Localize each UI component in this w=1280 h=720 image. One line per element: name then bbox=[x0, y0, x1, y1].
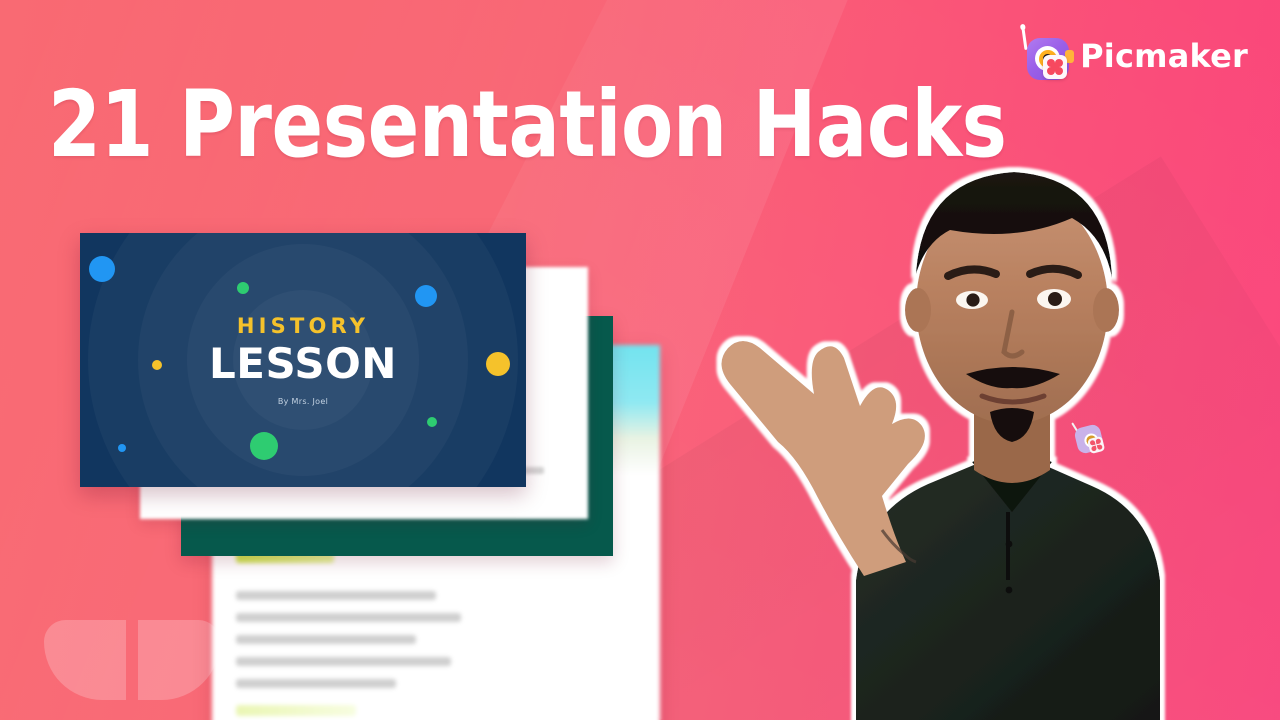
badge-petal-br bbox=[1096, 444, 1102, 450]
thumbnail-canvas: 21 Presentation Hacks Picmaker bbox=[0, 0, 1280, 720]
slide-title: LESSON bbox=[80, 339, 526, 388]
leaf-right-icon bbox=[138, 620, 220, 700]
presenter-pupil-right bbox=[1048, 292, 1062, 306]
slide-back-body-line bbox=[236, 679, 396, 688]
presenter-pupil-left bbox=[966, 293, 979, 306]
slide-back-body-line bbox=[236, 635, 416, 644]
presenter-ear-left bbox=[905, 288, 931, 332]
presenter-button bbox=[1006, 541, 1013, 548]
slide-dot-7 bbox=[118, 444, 126, 452]
leaf-pair-icon bbox=[44, 620, 220, 700]
leaf-left-icon bbox=[44, 620, 126, 700]
slide-author: By Mrs. Joel bbox=[80, 397, 526, 406]
slide-back-body-line bbox=[236, 613, 461, 622]
slide-back-swatch bbox=[236, 705, 356, 716]
presenter-arm bbox=[721, 341, 924, 576]
slide-dot-2 bbox=[237, 282, 249, 294]
slide-dot-6 bbox=[427, 417, 437, 427]
slide-dot-8 bbox=[250, 432, 278, 460]
presenter-ear-right bbox=[1093, 288, 1119, 332]
slide-back-body-line bbox=[236, 591, 436, 600]
slide-dot-3 bbox=[415, 285, 437, 307]
badge-card-icon bbox=[1087, 436, 1105, 454]
slide-text-block: HISTORY LESSON By Mrs. Joel bbox=[80, 314, 526, 406]
slide-front-thumbnail: HISTORY LESSON By Mrs. Joel bbox=[80, 233, 526, 487]
slide-dot-1 bbox=[89, 256, 115, 282]
presenter-photo bbox=[660, 60, 1280, 720]
slide-eyebrow: HISTORY bbox=[80, 314, 526, 338]
slide-back-body-line bbox=[236, 657, 451, 666]
presenter-button bbox=[1006, 587, 1013, 594]
slide-stack: HISTORY LESSON By Mrs. Joel bbox=[80, 233, 680, 598]
